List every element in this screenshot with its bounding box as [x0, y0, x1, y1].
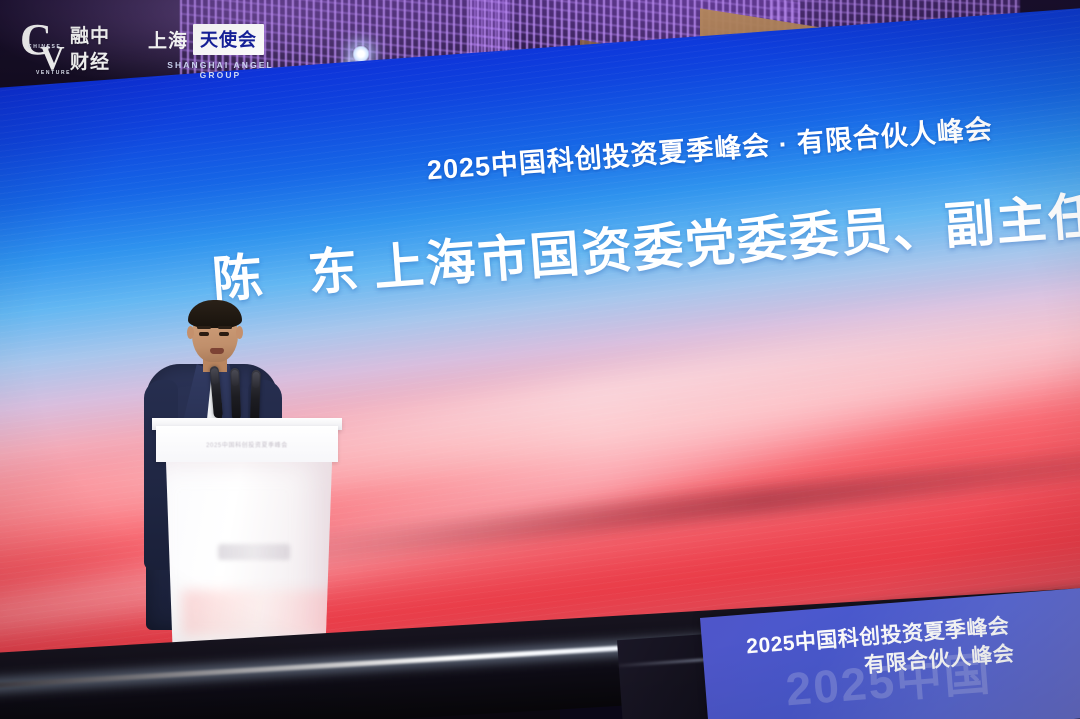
logo-english-bottom: VENTURE [36, 70, 71, 76]
logo-chinese-line1: 融中 [70, 24, 110, 50]
microphone [250, 370, 261, 422]
eyebrow-left [197, 326, 211, 329]
podium-panel-text: 2025中国科创投资夏季峰会 [206, 440, 288, 449]
sag-chinese-box: 天使会 [193, 24, 264, 55]
eye-left [199, 332, 209, 336]
conference-stage-photo: 2025中国科创投资夏季峰会 · 有限合伙人峰会 陈 东上海市国资委党委委员、副… [0, 0, 1080, 719]
logo-chinese: 融中 财经 [70, 24, 110, 75]
sag-chinese-boxed: 天使会 [200, 30, 257, 50]
hair [188, 300, 242, 328]
ear-left [187, 326, 194, 339]
ear-right [236, 326, 243, 339]
shanghai-angel-group-logo: 上海 天使会 SHANGHAI ANGEL GROUP [148, 24, 293, 76]
sag-chinese-prefix: 上海 [148, 26, 188, 53]
eye-right [219, 332, 229, 336]
podium-body [166, 462, 332, 650]
podium: 2025中国科创投资夏季峰会 [152, 418, 342, 650]
speaker-name: 陈 东 [210, 241, 376, 309]
sag-english: SHANGHAI ANGEL GROUP [148, 60, 293, 80]
chinaventure-logo: C V CHINESE VENTURE 融中 财经 [18, 22, 140, 78]
mouth [210, 348, 224, 354]
watermark-logos: C V CHINESE VENTURE 融中 财经 上海 天使会 SHANGHA… [0, 0, 300, 92]
cv-monogram-icon: C V CHINESE VENTURE [18, 22, 78, 78]
podium-front-panel: 2025中国科创投资夏季峰会 [156, 426, 338, 462]
podium-logo-mark [218, 544, 290, 560]
logo-chinese-line2: 财经 [70, 50, 110, 76]
logo-english-top: CHINESE [28, 44, 61, 50]
podium-reflection [182, 590, 342, 636]
eyebrow-right [218, 326, 232, 329]
microphone [230, 368, 241, 420]
sag-logo-row: 上海 天使会 [148, 24, 293, 55]
